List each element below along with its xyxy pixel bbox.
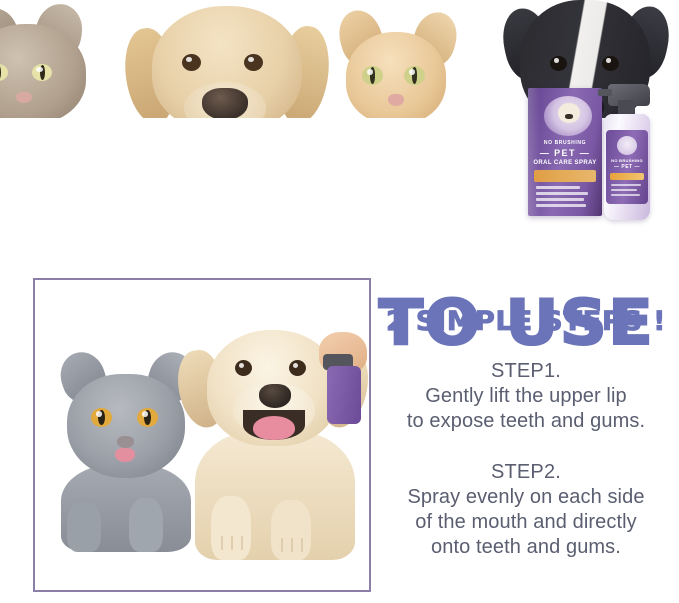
- nose-icon: [388, 94, 404, 106]
- box-line2: — PET —: [528, 148, 602, 158]
- tongue: [253, 416, 295, 440]
- product-box: NO BRUSHING — PET — ORAL CARE SPRAY: [528, 88, 602, 216]
- box-line1: NO BRUSHING: [528, 140, 602, 146]
- eye-icon: [235, 360, 252, 376]
- bottle-body: NO BRUSHING — PET —: [604, 114, 650, 220]
- paw: [271, 500, 311, 560]
- infographic-page: HOW TO USE NO BRUSHING — PET — ORAL CARE…: [0, 0, 679, 603]
- eye-icon: [244, 54, 263, 71]
- paw: [129, 498, 163, 552]
- product-shot: NO BRUSHING — PET — ORAL CARE SPRAY NO B…: [524, 76, 679, 228]
- bottle-dog-illustration: [617, 136, 637, 155]
- box-line3: ORAL CARE SPRAY: [528, 160, 602, 166]
- paw: [211, 496, 251, 560]
- cat-face: [346, 32, 446, 124]
- step-2-block: STEP2. Spray evenly on each side of the …: [378, 460, 674, 560]
- eye-icon: [550, 56, 567, 71]
- box-dog-illustration: [558, 103, 580, 123]
- step-2-line-1: Spray evenly on each side: [378, 485, 674, 510]
- step-1-line-1: Gently lift the upper lip: [378, 384, 674, 409]
- eye-icon: [91, 408, 112, 427]
- bottle-accent-band: [610, 173, 644, 180]
- product-bottle: NO BRUSHING — PET —: [596, 80, 658, 224]
- paw: [67, 502, 101, 552]
- tongue: [115, 448, 135, 462]
- eye-icon: [182, 54, 201, 71]
- eye-icon: [289, 360, 306, 376]
- ginger-cat-photo: [330, 10, 462, 132]
- step-1-label: STEP1.: [378, 359, 674, 384]
- box-accent-band: [534, 170, 596, 182]
- pets-photo: [35, 280, 369, 590]
- eye-icon: [362, 66, 383, 85]
- eye-icon: [137, 408, 158, 427]
- bottle-label: NO BRUSHING — PET —: [606, 130, 648, 204]
- steps-heading: 2 SIMPLE STEPS !: [375, 306, 677, 337]
- bottle-nozzle: [598, 89, 612, 96]
- bottle-line1: NO BRUSHING: [606, 158, 648, 163]
- open-mouth: [243, 410, 305, 440]
- nose-icon: [16, 92, 32, 103]
- cat-face: [67, 374, 185, 478]
- nose-icon: [117, 436, 134, 448]
- nose-icon: [259, 384, 291, 408]
- eye-icon: [32, 64, 52, 81]
- step-1-block: STEP1. Gently lift the upper lip to expo…: [378, 359, 674, 434]
- steps-column: 2 SIMPLE STEPS ! STEP1. Gently lift the …: [378, 306, 674, 560]
- pets-photo-frame: [33, 278, 371, 592]
- bottle-line2: — PET —: [606, 164, 648, 170]
- step-2-line-2: of the mouth and directly: [378, 510, 674, 535]
- box-bullet-list: [536, 186, 594, 210]
- eye-icon: [404, 66, 425, 85]
- step-2-line-3: onto teeth and gums.: [378, 535, 674, 560]
- gray-cat-photo: [57, 352, 197, 552]
- step-2-label: STEP2.: [378, 460, 674, 485]
- tabby-cat-photo: [0, 6, 104, 134]
- step-1-line-2: to expose teeth and gums.: [378, 409, 674, 434]
- eye-icon: [602, 56, 619, 71]
- nose-icon: [202, 88, 248, 120]
- spray-bottle-body: [327, 366, 361, 424]
- hand-with-spray-bottle: [313, 332, 371, 428]
